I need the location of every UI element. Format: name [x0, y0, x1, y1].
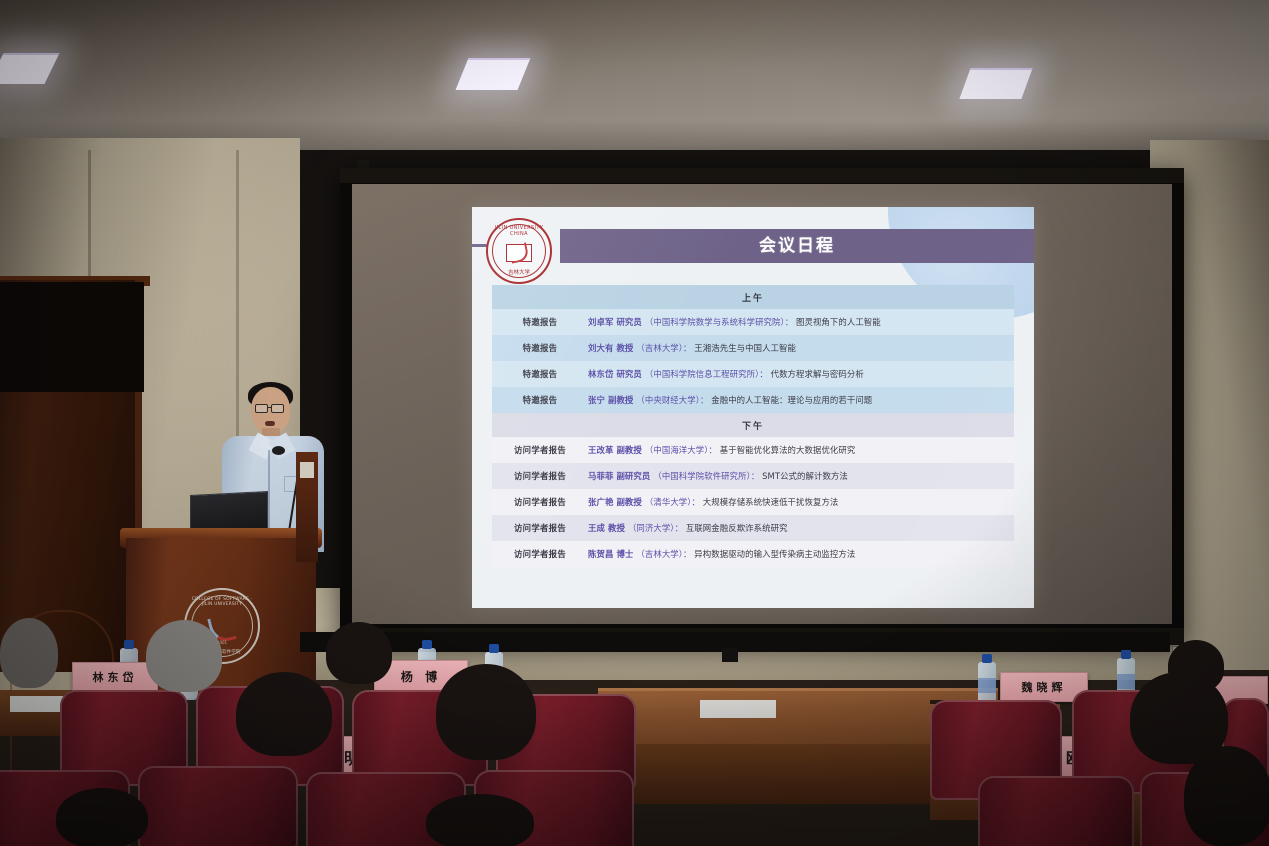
agenda-talk-row: 特邀报告张宁 副教授 （中央财经大学）： 金融中的人工智能：理论与应用的若干问题: [492, 387, 1014, 413]
agenda-talk-title: 大规模存储系统快速低干扰恢复方法: [700, 497, 838, 507]
presenter-glasses-bridge: [268, 407, 271, 408]
auditorium-seat: [978, 776, 1134, 846]
screen-top-bar: [340, 168, 1184, 183]
audience-member-head: [326, 622, 392, 684]
audience-member-head: [0, 618, 58, 688]
agenda-talk-description: 陈贺昌 博士 （吉林大学）： 异构数据驱动的输入型传染病主动监控方法: [588, 541, 1014, 567]
agenda-talk-kind: 访问学者报告: [492, 437, 588, 463]
agenda-talk-kind: 访问学者报告: [492, 489, 588, 515]
agenda-talk-title: 金融中的人工智能：理论与应用的若干问题: [709, 395, 873, 405]
agenda-talk-row: 访问学者报告王改革 副教授 （中国海洋大学）： 基于智能优化算法的大数据优化研究: [492, 437, 1014, 463]
agenda-talk-row: 访问学者报告马菲菲 副研究员 （中国科学院软件研究所）： SMT公式的解计数方法: [492, 463, 1014, 489]
agenda-affiliation: （中国科学院数学与系统科学研究院）：: [645, 317, 793, 327]
bottle-cap: [422, 640, 432, 649]
agenda-affiliation: （中国海洋大学）：: [645, 445, 717, 455]
audience-member-head: [426, 794, 534, 846]
agenda-talk-row: 特邀报告刘大有 教授 （吉林大学）： 王湘浩先生与中国人工智能: [492, 335, 1014, 361]
microphone-icon[interactable]: [272, 446, 285, 455]
audience-member-head: [236, 672, 332, 756]
agenda-talk-title: SMT公式的解计数方法: [759, 471, 848, 481]
agenda-affiliation: （中国科学院软件研究所）：: [653, 471, 759, 481]
agenda-talk-kind: 特邀报告: [492, 335, 588, 361]
audience-member-head: [1184, 746, 1269, 846]
agenda-talk-description: 刘大有 教授 （吉林大学）： 王湘浩先生与中国人工智能: [588, 335, 1014, 361]
agenda-section-label: 下午: [492, 413, 1014, 437]
logo-chinese-text: 吉林大学: [488, 268, 550, 276]
agenda-affiliation: （同济大学）：: [628, 523, 683, 533]
bottle-cap: [982, 654, 992, 663]
agenda-affiliation: （中央财经大学）：: [636, 395, 708, 405]
ceiling-light-panel: [456, 58, 531, 90]
agenda-affiliation: （中国科学院信息工程研究所）：: [645, 369, 768, 379]
agenda-section-row: 下午: [492, 413, 1014, 437]
presenter-glasses-icon: [255, 404, 268, 413]
agenda-table: 上午特邀报告刘卓军 研究员 （中国科学院数学与系统科学研究院）： 图灵视角下的人…: [492, 285, 1014, 567]
agenda-affiliation: （吉林大学）：: [636, 343, 691, 353]
paper-sheet: [700, 700, 776, 718]
agenda-talk-row: 特邀报告林东岱 研究员 （中国科学院信息工程研究所）： 代数方程求解与密码分析: [492, 361, 1014, 387]
agenda-talk-title: 基于智能优化算法的大数据优化研究: [717, 445, 855, 455]
podium-control-button[interactable]: [300, 462, 314, 478]
agenda-talk-description: 张广艳 副教授 （清华大学）： 大规模存储系统快速低干扰恢复方法: [588, 489, 1014, 515]
agenda-talk-description: 林东岱 研究员 （中国科学院信息工程研究所）： 代数方程求解与密码分析: [588, 361, 1014, 387]
agenda-talk-kind: 访问学者报告: [492, 463, 588, 489]
agenda-talk-description: 王成 教授 （同济大学）： 互联网金融反欺诈系统研究: [588, 515, 1014, 541]
agenda-talk-kind: 访问学者报告: [492, 541, 588, 567]
bottle-label: [978, 678, 996, 693]
audience-member-head: [56, 788, 148, 846]
agenda-section-row: 上午: [492, 285, 1014, 309]
projector-mount: [722, 648, 738, 662]
agenda-talk-description: 马菲菲 副研究员 （中国科学院软件研究所）： SMT公式的解计数方法: [588, 463, 1014, 489]
agenda-speaker-name: 王改革 副教授: [588, 445, 645, 455]
conference-hall-scene: 会议日程 JILIN UNIVERSITY CHINA 吉林大学 上午特邀报告刘…: [0, 0, 1269, 846]
logo-english-text: JILIN UNIVERSITY CHINA: [488, 225, 550, 237]
jilin-university-logo-icon: JILIN UNIVERSITY CHINA 吉林大学: [486, 218, 552, 284]
ceiling-light-panel: [959, 68, 1032, 99]
agenda-talk-kind: 特邀报告: [492, 387, 588, 413]
presentation-slide: 会议日程 JILIN UNIVERSITY CHINA 吉林大学 上午特邀报告刘…: [472, 207, 1034, 608]
auditorium-seat: [138, 766, 298, 846]
agenda-talk-row: 特邀报告刘卓军 研究员 （中国科学院数学与系统科学研究院）： 图灵视角下的人工智…: [492, 309, 1014, 335]
agenda-talk-kind: 特邀报告: [492, 309, 588, 335]
emblem-english-text: COLLEGE OF SOFTWARE · JILIN UNIVERSITY: [186, 597, 258, 607]
agenda-talk-kind: 访问学者报告: [492, 515, 588, 541]
agenda-speaker-name: 张广艳 副教授: [588, 497, 645, 507]
bottle-cap: [1121, 650, 1131, 659]
bottle-cap: [489, 644, 499, 653]
slide-title: 会议日程: [560, 229, 1034, 263]
door-shadow: [0, 282, 144, 392]
agenda-talk-title: 代数方程求解与密码分析: [768, 369, 864, 379]
agenda-talk-description: 刘卓军 研究员 （中国科学院数学与系统科学研究院）： 图灵视角下的人工智能: [588, 309, 1014, 335]
agenda-speaker-name: 林东岱 研究员: [588, 369, 645, 379]
agenda-talk-title: 图灵视角下的人工智能: [793, 317, 881, 327]
agenda-talk-description: 张宁 副教授 （中央财经大学）： 金融中的人工智能：理论与应用的若干问题: [588, 387, 1014, 413]
audience-member-head: [1168, 640, 1224, 692]
slide-header: 会议日程 JILIN UNIVERSITY CHINA 吉林大学: [472, 207, 1034, 269]
agenda-talk-title: 异构数据驱动的输入型传染病主动监控方法: [692, 549, 856, 559]
agenda-talk-title: 互联网金融反欺诈系统研究: [683, 523, 787, 533]
audience-member-head: [146, 620, 222, 692]
presenter-mouth: [265, 421, 275, 426]
bottle-label: [1117, 674, 1135, 689]
agenda-talk-row: 访问学者报告王成 教授 （同济大学）： 互联网金融反欺诈系统研究: [492, 515, 1014, 541]
agenda-speaker-name: 刘卓军 研究员: [588, 317, 645, 327]
agenda-speaker-name: 陈贺昌 博士: [588, 549, 636, 559]
agenda-talk-description: 王改革 副教授 （中国海洋大学）： 基于智能优化算法的大数据优化研究: [588, 437, 1014, 463]
presenter-glasses-icon: [271, 404, 284, 413]
agenda-talk-title: 王湘浩先生与中国人工智能: [692, 343, 796, 353]
agenda-affiliation: （吉林大学）：: [636, 549, 691, 559]
audience-member-head: [436, 664, 536, 760]
agenda-speaker-name: 王成 教授: [588, 523, 628, 533]
agenda-speaker-name: 张宁 副教授: [588, 395, 636, 405]
agenda-talk-row: 访问学者报告陈贺昌 博士 （吉林大学）： 异构数据驱动的输入型传染病主动监控方法: [492, 541, 1014, 567]
agenda-speaker-name: 马菲菲 副研究员: [588, 471, 653, 481]
agenda-affiliation: （清华大学）：: [645, 497, 700, 507]
agenda-talk-row: 访问学者报告张广艳 副教授 （清华大学）： 大规模存储系统快速低干扰恢复方法: [492, 489, 1014, 515]
bottle-cap: [124, 640, 134, 649]
audience-nameplate: 林东岱: [72, 662, 158, 692]
agenda-section-label: 上午: [492, 285, 1014, 309]
agenda-speaker-name: 刘大有 教授: [588, 343, 636, 353]
agenda-talk-kind: 特邀报告: [492, 361, 588, 387]
